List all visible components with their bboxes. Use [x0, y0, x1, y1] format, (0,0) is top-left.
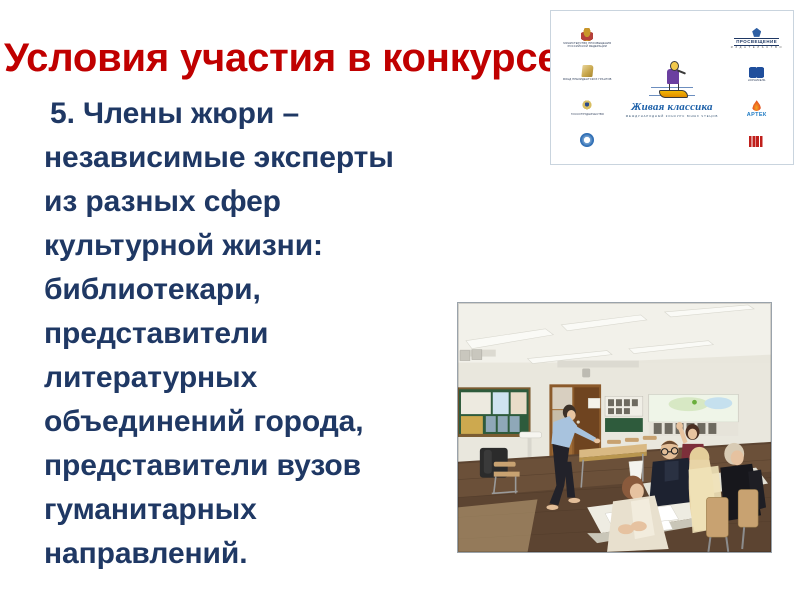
- logo-rossotrudnichestvo: Россотрудничество: [551, 99, 624, 116]
- logo-ministry-of-education: Министерство просвещения Российской Феде…: [551, 28, 624, 48]
- classroom-jury-photo: [457, 302, 772, 553]
- logo-column-right: ПРОСВЕЩЕНИЕ И З Д А Т Е Л Ь С Т В О НОРН…: [720, 11, 793, 164]
- body-line-10: гуманитарных: [44, 488, 444, 532]
- logo-caption: Фонд президентских грантов: [563, 78, 612, 81]
- prosveshchenie-icon: [752, 28, 761, 37]
- page-title: Условия участия в конкурсе:: [4, 38, 564, 78]
- body-line-1: 5. Члены жюри –: [44, 92, 444, 136]
- mts-red-icon: [749, 136, 764, 147]
- logo-presidential-grants-fund: Фонд президентских грантов: [551, 65, 624, 81]
- gold-shield-emblem-icon: [581, 99, 593, 112]
- logo-subcaption: И З Д А Т Е Л Ь С Т В О: [731, 46, 783, 49]
- body-line-5: библиотекари,: [44, 268, 444, 312]
- zhivaya-klassika-logo: Живая классика МЕЖДУНАРОДНЫЙ КОНКУРС ЮНЫ…: [626, 57, 718, 118]
- body-line-3: из разных сфер: [44, 180, 444, 224]
- logo-mts: [720, 136, 793, 147]
- body-line-11: направлений.: [44, 532, 444, 576]
- zhivaya-klassika-subtitle: МЕЖДУНАРОДНЫЙ КОНКУРС ЮНЫХ ЧТЕЦОВ: [626, 114, 718, 118]
- logo-caption: НОРНИКЕЛЬ: [748, 79, 766, 82]
- body-line-6: представители: [44, 312, 444, 356]
- gold-book-icon: [581, 65, 593, 77]
- body-line-4: культурной жизни:: [44, 224, 444, 268]
- blue-globe-icon: [580, 133, 594, 147]
- nornickel-icon: [749, 67, 764, 78]
- logo-caption: ПРОСВЕЩЕНИЕ: [734, 38, 779, 46]
- artek-flame-icon: [752, 100, 761, 111]
- reader-on-book-icon: [649, 57, 695, 103]
- logo-blue-globe: [551, 133, 624, 147]
- logo-nornickel: НОРНИКЕЛЬ: [720, 67, 793, 82]
- logo-column-center: Живая классика МЕЖДУНАРОДНЫЙ КОНКУРС ЮНЫ…: [624, 11, 721, 164]
- classroom-scene: [458, 303, 771, 552]
- logo-column-left: Министерство просвещения Российской Феде…: [551, 11, 624, 164]
- logo-artek: АРТЕК: [720, 100, 793, 118]
- body-line-9: представители вузов: [44, 444, 444, 488]
- logo-caption: Россотрудничество: [571, 113, 605, 116]
- logo-prosveshchenie: ПРОСВЕЩЕНИЕ И З Д А Т Е Л Ь С Т В О: [720, 28, 793, 50]
- russian-coat-of-arms-icon: [581, 28, 593, 41]
- body-line-2: независимые эксперты: [44, 136, 444, 180]
- body-line-7: литературных: [44, 356, 444, 400]
- body-text-block: 5. Члены жюри – независимые эксперты из …: [44, 92, 444, 576]
- sponsors-logo-board: Министерство просвещения Российской Феде…: [550, 10, 794, 165]
- logo-caption: Министерство просвещения Российской Феде…: [556, 42, 618, 48]
- body-line-8: объединений города,: [44, 400, 444, 444]
- logo-caption: АРТЕК: [747, 112, 767, 118]
